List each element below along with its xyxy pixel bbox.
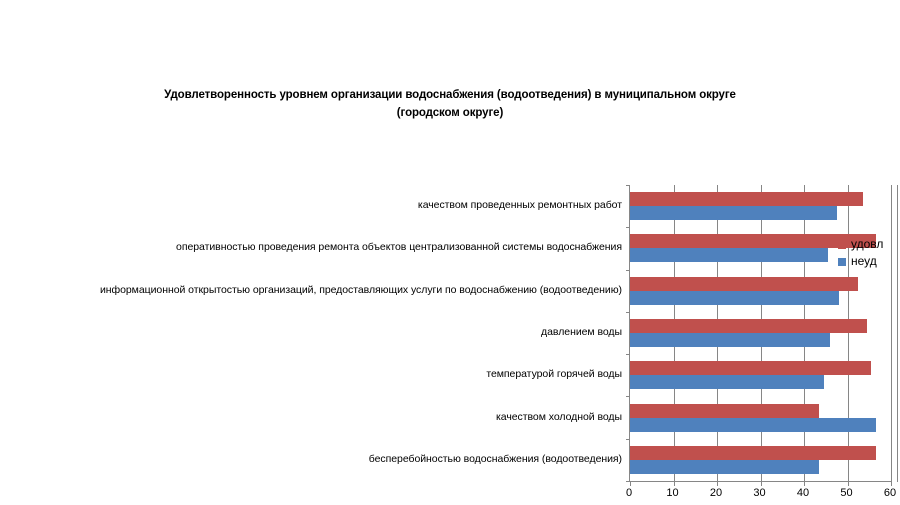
category-tick-mark	[626, 312, 630, 313]
x-tick-label: 20	[710, 487, 722, 499]
category-label: информационной открытостью организаций, …	[0, 284, 622, 296]
bar-udovl[interactable]	[630, 277, 858, 291]
category-label: оперативностью проведения ремонта объект…	[0, 241, 622, 253]
x-tick-label: 50	[840, 487, 852, 499]
chart-right-border	[897, 185, 898, 482]
category-label: температурой горячей воды	[0, 368, 622, 380]
category-label: бесперебойностью водоснабжения (водоотве…	[0, 453, 622, 465]
x-tick-mark	[804, 481, 805, 486]
chart-legend: удовлнеуд	[838, 236, 898, 270]
category-tick-mark	[626, 270, 630, 271]
x-tick-mark	[717, 481, 718, 486]
bar-udovl[interactable]	[630, 319, 867, 333]
x-tick-mark	[630, 481, 631, 486]
category-label: качеством проведенных ремонтных работ	[0, 199, 622, 211]
bar-udovl[interactable]	[630, 192, 863, 206]
category-tick-mark	[626, 439, 630, 440]
x-axis-tick-labels: 0102030405060	[629, 487, 900, 503]
legend-swatch-icon	[838, 241, 846, 249]
legend-label: удовл	[851, 236, 883, 253]
x-tick-label: 40	[797, 487, 809, 499]
bar-udovl[interactable]	[630, 404, 819, 418]
x-tick-label: 30	[753, 487, 765, 499]
plot-area	[629, 185, 891, 482]
category-label: давлением воды	[0, 326, 622, 338]
category-tick-mark	[626, 185, 630, 186]
x-gridline	[848, 185, 849, 481]
legend-label: неуд	[851, 253, 877, 270]
bar-neud[interactable]	[630, 418, 876, 432]
legend-swatch-icon	[838, 258, 846, 266]
bar-udovl[interactable]	[630, 361, 871, 375]
category-tick-mark	[626, 354, 630, 355]
x-tick-mark	[848, 481, 849, 486]
x-tick-label: 60	[884, 487, 896, 499]
chart-title-line-1: Удовлетворенность уровнем организации во…	[110, 86, 790, 104]
chart-container: Удовлетворенность уровнем организации во…	[0, 0, 900, 505]
chart-title-line-2: (городском округе)	[110, 104, 790, 122]
bar-udovl[interactable]	[630, 446, 876, 460]
chart-title: Удовлетворенность уровнем организации во…	[110, 86, 790, 122]
category-tick-mark	[626, 396, 630, 397]
category-label: качеством холодной воды	[0, 411, 622, 423]
bar-neud[interactable]	[630, 333, 830, 347]
category-tick-mark	[626, 227, 630, 228]
legend-item-udovl[interactable]: удовл	[838, 236, 898, 253]
bar-neud[interactable]	[630, 375, 824, 389]
legend-item-neud[interactable]: неуд	[838, 253, 898, 270]
bar-neud[interactable]	[630, 206, 837, 220]
x-gridline	[891, 185, 892, 481]
x-tick-mark	[674, 481, 675, 486]
x-tick-label: 0	[626, 487, 632, 499]
x-tick-label: 10	[666, 487, 678, 499]
bar-neud[interactable]	[630, 460, 819, 474]
bar-neud[interactable]	[630, 291, 839, 305]
category-tick-mark	[626, 481, 630, 482]
x-tick-mark	[761, 481, 762, 486]
category-axis-labels: качеством проведенных ремонтных работопе…	[0, 185, 625, 481]
x-tick-mark	[891, 481, 892, 486]
bar-neud[interactable]	[630, 248, 828, 262]
